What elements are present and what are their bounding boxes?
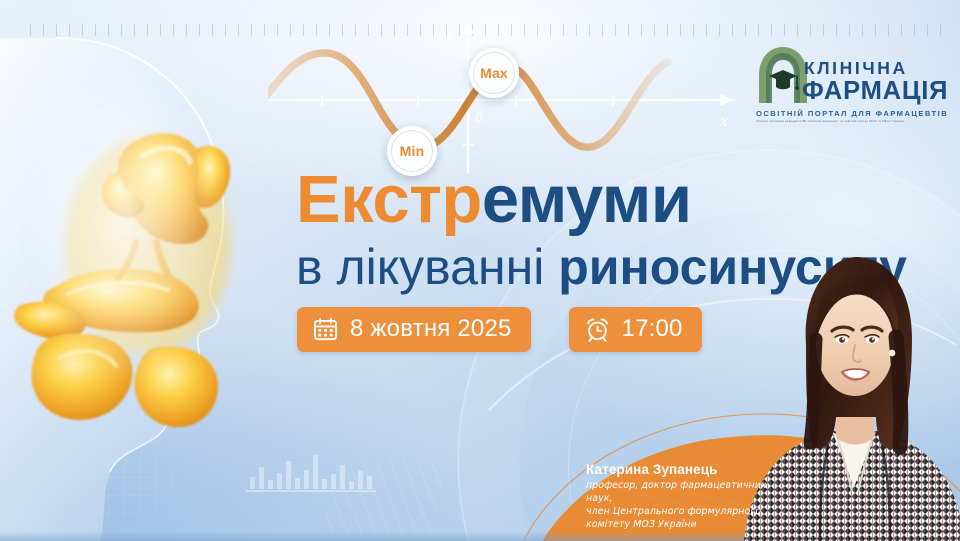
logo-wordmark: КЛІНІЧНА ФАРМАЦІЯ	[802, 60, 948, 106]
graph-max-label: Max	[480, 65, 508, 81]
webinar-banner: y x 0 Max Min Екстремуми в лікуванні рин…	[0, 0, 960, 541]
title-line-1: Екстремуми	[296, 166, 936, 233]
head-anatomy-illustration	[0, 28, 290, 541]
graph-svg: y x 0	[268, 18, 738, 178]
logo-word-top: КЛІНІЧНА	[802, 60, 948, 78]
title-line-2-light: в лікуванні	[296, 239, 544, 295]
logo-row: КЛІНІЧНА ФАРМАЦІЯ	[756, 44, 938, 106]
title-line-1-rest: емуми	[482, 162, 692, 237]
graph-max-badge: Max	[469, 48, 519, 98]
event-date-text: 8 жовтня 2025	[350, 315, 512, 343]
event-time-text: 17:00	[622, 315, 683, 343]
speaker-name: Катерина Зупанець	[586, 462, 796, 477]
calendar-icon	[312, 316, 339, 343]
extremum-graph: y x 0 Max Min	[268, 18, 738, 178]
logo-word-main: ФАРМАЦІЯ	[802, 79, 948, 105]
event-time-pill: 17:00	[569, 307, 702, 352]
event-info-pills: 8 жовтня 2025 17:00	[297, 307, 702, 352]
alarm-clock-icon	[584, 316, 611, 343]
speaker-credentials-line-2: член Центрального формулярного	[586, 506, 796, 519]
speaker-credentials: професор, доктор фармацевтичних наук, чл…	[586, 480, 796, 532]
speaker-credentials-line-1: професор, доктор фармацевтичних наук,	[586, 480, 796, 506]
axis-label-y: y	[444, 23, 454, 42]
event-date-pill: 8 жовтня 2025	[297, 307, 531, 352]
graph-min-label: Min	[400, 143, 425, 159]
axis-label-x: x	[719, 111, 728, 130]
logo-tagline: ОСВІТНІЙ ПОРТАЛ ДЛЯ ФАРМАЦЕВТІВ	[756, 109, 938, 118]
speaker-credentials-line-3: комітету МОЗ України	[586, 519, 796, 532]
brand-logo[interactable]: КЛІНІЧНА ФАРМАЦІЯ ОСВІТНІЙ ПОРТАЛ ДЛЯ ФА…	[756, 44, 938, 124]
title-line-1-highlight: Екстр	[296, 162, 482, 237]
axis-label-origin: 0	[475, 110, 483, 126]
head-highlight	[0, 38, 270, 528]
speaker-info: Катерина Зупанець професор, доктор фарма…	[586, 462, 796, 532]
logo-fine-print: Освітня програма кафедри КЛФ "Клінічна ф…	[756, 120, 938, 124]
